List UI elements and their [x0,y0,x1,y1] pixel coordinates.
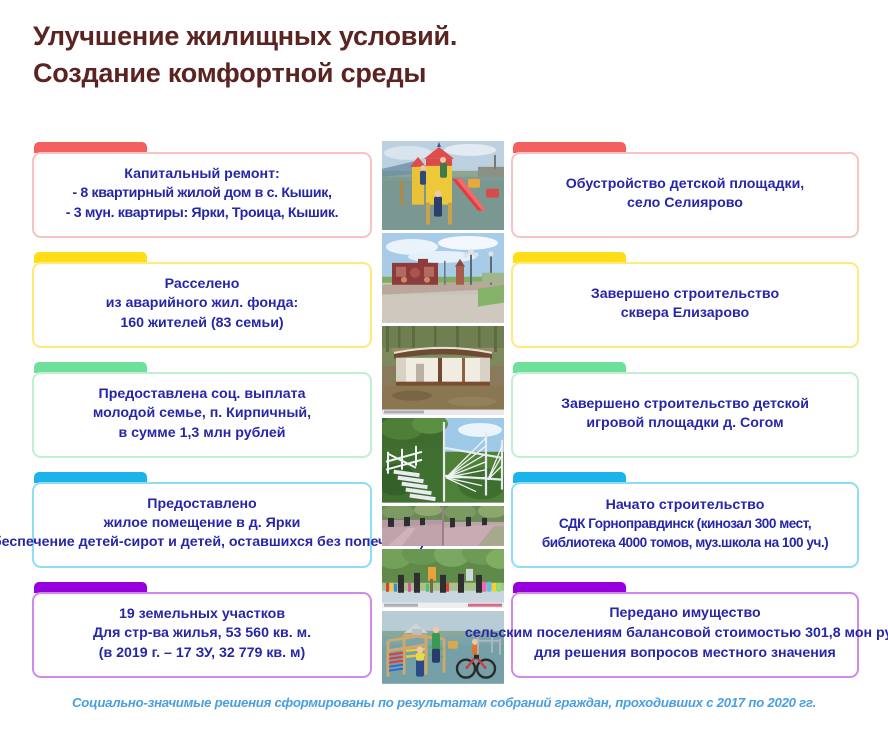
card-text-line: - 3 мун. квартиры: Ярки, Троица, Кышик. [66,204,338,223]
right-card-column: Обустройство детской площадки,село Селия… [511,142,859,692]
info-card[interactable]: Завершено строительствосквера Елизарово [511,252,859,348]
photo-brick-monument [382,233,504,322]
card-body: Завершено строительствосквера Елизарово [511,262,859,348]
card-text-line: Предоставлено [147,495,256,514]
info-card[interactable]: 19 земельных участковДля стр-ва жилья, 5… [32,582,372,678]
card-text-line: 160 жителей (83 семьи) [120,314,283,333]
card-body: Предоставленожилое помещение в д. Ярки(о… [32,482,372,568]
card-body: Передано имуществосельским поселениям ба… [511,592,859,678]
card-text-line: 19 земельных участков [119,605,285,624]
photo-outdoor-stage [382,326,504,415]
card-text-line: Начато строительство [606,496,765,515]
card-text-line: Для стр-ва жилья, 53 560 кв. м. [93,624,311,643]
left-card-column: Капитальный ремонт:- 8 квартирный жилой … [32,142,372,692]
card-text-line: библиотека 4000 томов, муз.школа на 100 … [542,534,828,552]
info-card[interactable]: Расселеноиз аварийного жил. фонда:160 жи… [32,252,372,348]
card-text-line: Предоставлена соц. выплата [99,385,306,404]
card-body: Начато строительствоСДК Горноправдинск (… [511,482,859,568]
card-text-line: Завершено строительство [591,285,779,304]
center-photo-column [382,141,504,684]
card-body: Завершено строительство детскойигровой п… [511,372,859,458]
slide-root: Улучшение жилищных условий. Создание ком… [0,0,888,750]
photo-park-paths [382,506,504,546]
card-text-line: село Селиярово [627,194,743,213]
card-text-line: Капитальный ремонт: [124,165,280,184]
footer-note: Социально-значимые решения сформированы … [0,695,888,710]
info-card[interactable]: Предоставлена соц. выплатамолодой семье,… [32,362,372,458]
info-card[interactable]: Передано имуществосельским поселениям ба… [511,582,859,678]
photo-park-trees-flags [382,549,504,609]
info-card[interactable]: Капитальный ремонт:- 8 квартирный жилой … [32,142,372,238]
page-title: Улучшение жилищных условий. Создание ком… [33,18,733,93]
card-text-line: молодой семье, п. Кирпичный, [93,404,311,423]
card-text-line: игровой площадки д. Согом [586,414,783,433]
card-text-line: сквера Елизарово [621,304,749,323]
card-body: 19 земельных участковДля стр-ва жилья, 5… [32,592,372,678]
card-body: Предоставлена соц. выплатамолодой семье,… [32,372,372,458]
card-text-line: сельским поселениям балансовой стоимость… [465,624,888,644]
card-text-line: жилое помещение в д. Ярки [104,514,301,533]
info-card[interactable]: Завершено строительство детскойигровой п… [511,362,859,458]
card-text-line: Обустройство детской площадки, [566,175,805,194]
card-body: Расселеноиз аварийного жил. фонда:160 жи… [32,262,372,348]
card-text-line: Расселено [165,275,240,294]
photo-playground-bicycle [382,611,504,684]
info-card[interactable]: Обустройство детской площадки,село Селия… [511,142,859,238]
card-text-line: в сумме 1,3 млн рублей [119,424,286,443]
photo-playground-slide [382,141,504,230]
card-text-line: СДК Горноправдинск (кинозал 300 мест, [559,515,811,533]
card-text-line: Передано имущество [609,604,760,623]
card-text-line: (в 2019 г. – 17 ЗУ, 32 779 кв. м) [99,644,306,663]
photo-white-fence-stairs [382,418,504,503]
info-card[interactable]: Предоставленожилое помещение в д. Ярки(о… [32,472,372,568]
card-text-line: для решения вопросов местного значения [534,644,836,664]
card-text-line: из аварийного жил. фонда: [106,294,298,313]
card-body: Капитальный ремонт:- 8 квартирный жилой … [32,152,372,238]
card-text-line: (обеспечение детей-сирот и детей, оставш… [0,533,424,553]
info-card[interactable]: Начато строительствоСДК Горноправдинск (… [511,472,859,568]
card-text-line: - 8 квартирный жилой дом в с. Кышик, [72,184,331,203]
card-text-line: Завершено строительство детской [561,395,809,414]
card-body: Обустройство детской площадки,село Селия… [511,152,859,238]
